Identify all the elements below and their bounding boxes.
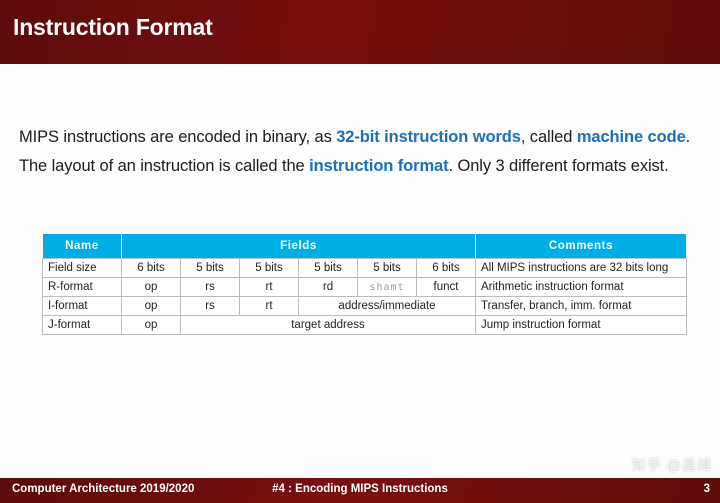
table-header-row: Name Fields Comments <box>43 234 687 259</box>
cell-i-format-address-immediate: address/immediate <box>299 297 476 316</box>
page-title: Instruction Format <box>13 14 213 41</box>
row-name-i-format: I-format <box>43 297 122 316</box>
highlight-32bit-instruction-words: 32-bit instruction words <box>336 128 521 146</box>
cell-field-size-0: 6 bits <box>122 259 181 278</box>
body-segment-2: , called <box>521 128 577 146</box>
footer-page-number: 3 <box>704 483 710 495</box>
cell-field-size-1: 5 bits <box>181 259 240 278</box>
cell-r-format-shamt: shamt <box>358 278 417 297</box>
table-row: J-format op target address Jump instruct… <box>43 316 687 335</box>
comment-j-format: Jump instruction format <box>476 316 687 335</box>
cell-r-format-rs: rs <box>181 278 240 297</box>
watermark: 知乎 @昌维 <box>632 455 712 475</box>
instruction-format-table-wrapper: Name Fields Comments Field size 6 bits 5… <box>42 233 687 335</box>
table-header-name: Name <box>43 234 122 259</box>
comment-r-format: Arithmetic instruction format <box>476 278 687 297</box>
table-row: Field size 6 bits 5 bits 5 bits 5 bits 5… <box>43 259 687 278</box>
body-paragraph: MIPS instructions are encoded in binary,… <box>19 123 699 181</box>
body-text-block: MIPS instructions are encoded in binary,… <box>19 106 699 197</box>
table-header-comments: Comments <box>476 234 687 259</box>
cell-i-format-rt: rt <box>240 297 299 316</box>
cell-r-format-rd: rd <box>299 278 358 297</box>
instruction-format-table: Name Fields Comments Field size 6 bits 5… <box>42 233 687 335</box>
table-row: I-format op rs rt address/immediate Tran… <box>43 297 687 316</box>
cell-j-format-target-address: target address <box>181 316 476 335</box>
comment-field-size: All MIPS instructions are 32 bits long <box>476 259 687 278</box>
slide-canvas: Instruction Format MIPS instructions are… <box>0 0 720 503</box>
cell-field-size-2: 5 bits <box>240 259 299 278</box>
table-header-fields: Fields <box>122 234 476 259</box>
cell-r-format-op: op <box>122 278 181 297</box>
cell-field-size-5: 6 bits <box>417 259 476 278</box>
slide-title-band: Instruction Format <box>0 0 720 64</box>
cell-j-format-op: op <box>122 316 181 335</box>
cell-field-size-3: 5 bits <box>299 259 358 278</box>
table-row: R-format op rs rt rd shamt funct Arithme… <box>43 278 687 297</box>
highlight-instruction-format: instruction format <box>309 157 448 175</box>
comment-i-format: Transfer, branch, imm. format <box>476 297 687 316</box>
cell-i-format-op: op <box>122 297 181 316</box>
body-segment-4: . Only 3 different formats exist. <box>449 157 669 175</box>
cell-i-format-rs: rs <box>181 297 240 316</box>
cell-r-format-rt: rt <box>240 278 299 297</box>
row-name-j-format: J-format <box>43 316 122 335</box>
cell-r-format-funct: funct <box>417 278 476 297</box>
footer-lecture-label: #4 : Encoding MIPS Instructions <box>0 483 720 495</box>
row-name-field-size: Field size <box>43 259 122 278</box>
highlight-machine-code: machine code <box>577 128 686 146</box>
row-name-r-format: R-format <box>43 278 122 297</box>
body-segment-1: MIPS instructions are encoded in binary,… <box>19 128 336 146</box>
slide-footer-band: Computer Architecture 2019/2020 #4 : Enc… <box>0 478 720 503</box>
cell-field-size-4: 5 bits <box>358 259 417 278</box>
